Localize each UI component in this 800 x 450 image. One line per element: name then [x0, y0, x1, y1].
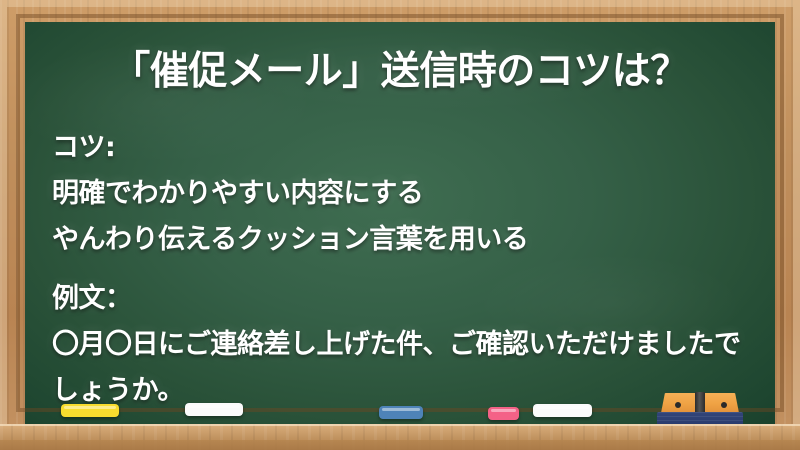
chalk-tray-lip	[0, 440, 800, 450]
eraser-strap	[695, 392, 705, 414]
example-heading: 例文：	[52, 276, 761, 322]
eraser-screw-right	[721, 402, 727, 408]
chalkboard-slide: 「催促メール」送信時のコツは？ コツ: 明確でわかりやすい内容にする やんわり伝…	[0, 0, 800, 450]
tips-heading: コツ:	[52, 125, 761, 171]
chalk-white-2[interactable]	[533, 404, 592, 417]
slide-title: 「催促メール」送信時のコツは？	[25, 52, 775, 91]
slide-body: コツ: 明確でわかりやすい内容にする やんわり伝えるクッション言葉を用いる 例文…	[52, 125, 761, 414]
section-spacer	[52, 263, 761, 276]
chalkboard-surface: 「催促メール」送信時のコツは？ コツ: 明確でわかりやすい内容にする やんわり伝…	[25, 22, 775, 424]
chalk-pink[interactable]	[488, 407, 519, 420]
chalk-blue[interactable]	[379, 406, 423, 419]
tips-item-2: やんわり伝えるクッション言葉を用いる	[52, 217, 761, 263]
eraser-screw-left	[675, 402, 681, 408]
chalk-yellow[interactable]	[61, 404, 119, 417]
example-sentence: 〇月〇日にご連絡差し上げた件、ご確認いただけましたでしょうか。	[52, 322, 761, 414]
chalk-white-1[interactable]	[185, 403, 243, 416]
tips-item-1: 明確でわかりやすい内容にする	[52, 171, 761, 217]
